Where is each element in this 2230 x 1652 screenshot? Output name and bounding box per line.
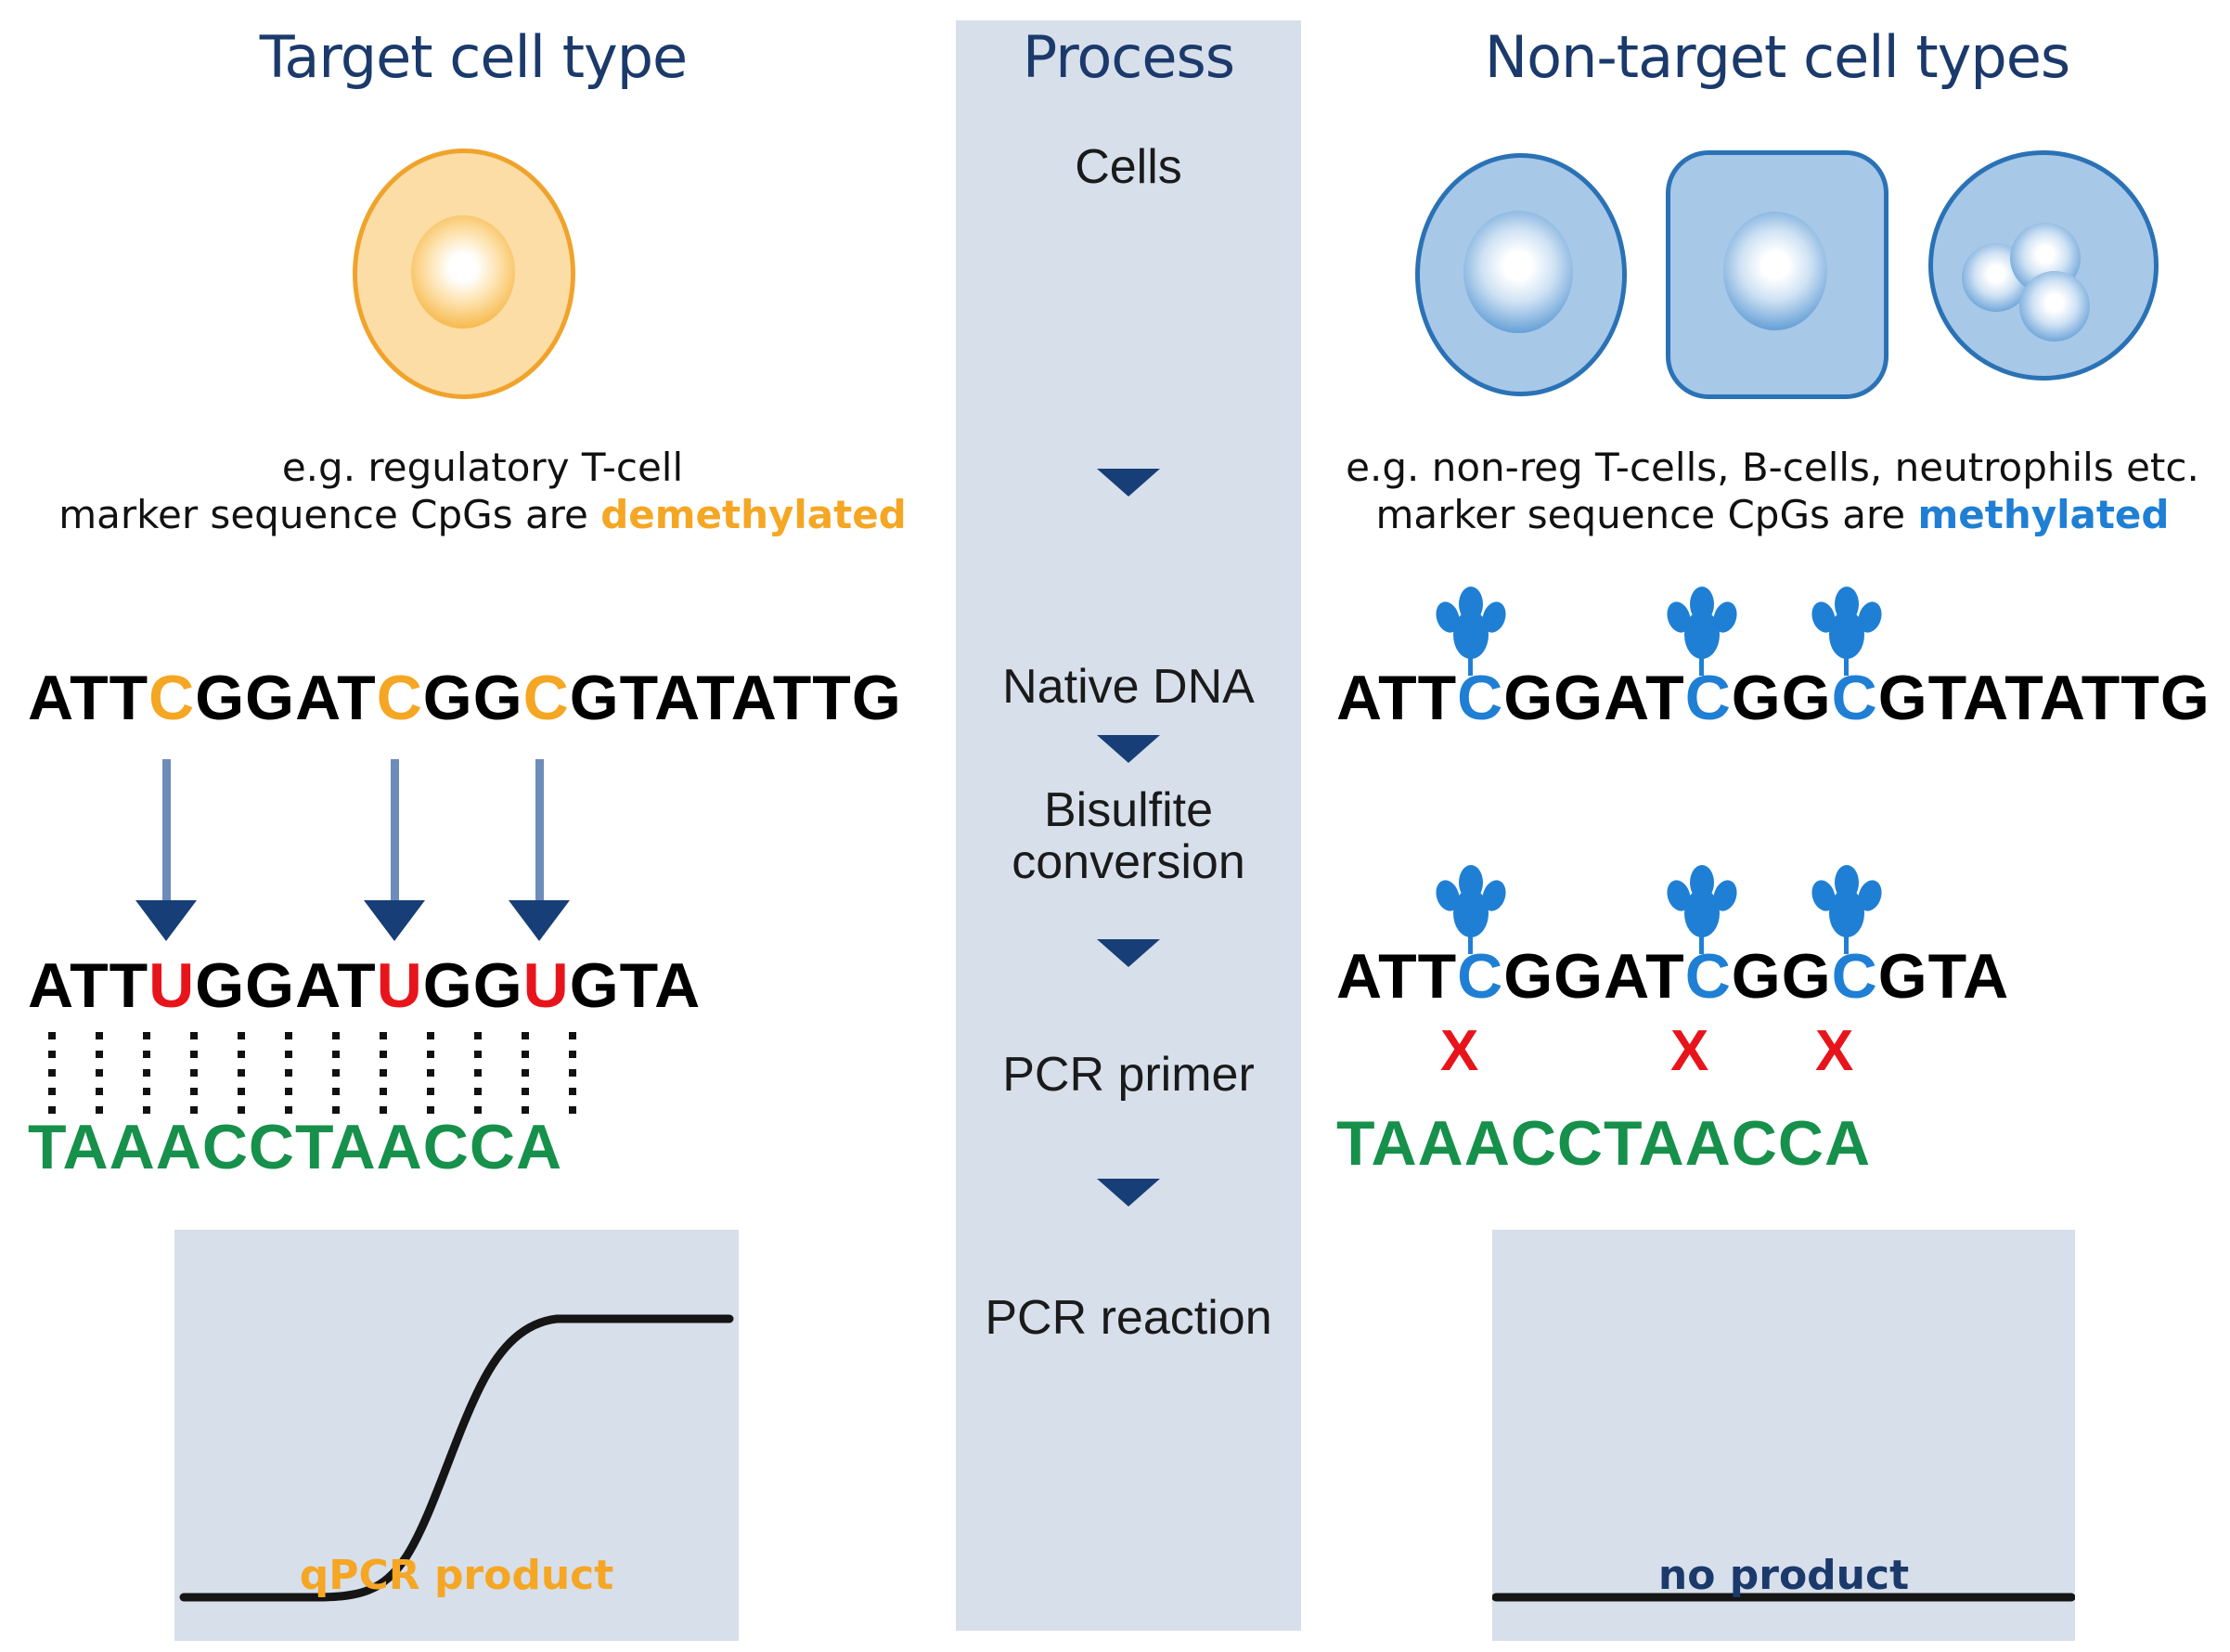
base-t-15: T bbox=[696, 663, 731, 733]
base-g-12: G bbox=[570, 950, 620, 1021]
base-g-12: G bbox=[1878, 663, 1928, 733]
target-cell-diagram bbox=[353, 148, 575, 399]
base-a-14: A bbox=[1963, 663, 2004, 733]
base-g-9: G bbox=[423, 950, 473, 1021]
base-t-7: T bbox=[1645, 663, 1685, 733]
base-pair-dot-column bbox=[332, 1032, 340, 1117]
target-caption-prefix: marker sequence CpGs are bbox=[58, 492, 600, 537]
non-target-cell-3 bbox=[1928, 150, 2160, 396]
base-a-6: A bbox=[1604, 941, 1645, 1012]
target-result-label: qPCR product bbox=[174, 1552, 739, 1599]
base-t-18: T bbox=[2120, 663, 2160, 733]
process-step-bisulfite-line1: Bisulfite bbox=[956, 784, 1301, 836]
base-g-9: G bbox=[1732, 663, 1782, 733]
column-title-process: Process bbox=[956, 23, 1301, 91]
mismatch-mark-3: X bbox=[1815, 1023, 1854, 1080]
base-t-17: T bbox=[773, 663, 813, 733]
base-g-4: G bbox=[1503, 941, 1553, 1012]
base-a-14: A bbox=[654, 950, 701, 1021]
base-t-1: T bbox=[70, 663, 110, 733]
base-t-2: T bbox=[110, 663, 149, 733]
non-target-caption-methylated: methylated bbox=[1918, 492, 2170, 537]
base-t-1: T bbox=[1378, 941, 1418, 1012]
base-pair-dot-column bbox=[96, 1032, 103, 1117]
target-base-pair-dots bbox=[28, 1032, 733, 1125]
base-t-2: T bbox=[110, 950, 149, 1021]
base-c-11: C bbox=[1832, 941, 1878, 1012]
base-c-11: C bbox=[523, 663, 570, 733]
base-t-18: T bbox=[812, 663, 852, 733]
base-t-13: T bbox=[620, 950, 655, 1021]
base-u-11: U bbox=[523, 950, 570, 1021]
base-pair-dot-column bbox=[474, 1032, 482, 1117]
base-pair-dot-column bbox=[48, 1032, 56, 1117]
process-step-bisulfite-line2: conversion bbox=[956, 836, 1301, 888]
arrow-down-icon-3 bbox=[1097, 939, 1160, 967]
base-g-4: G bbox=[1503, 663, 1553, 733]
non-target-post-bisulfite-sequence: ATTCGGATCGGCGTA bbox=[1336, 945, 2009, 1008]
target-pcr-primer-sequence: TAAACCTAACCA bbox=[28, 1116, 562, 1179]
base-t-13: T bbox=[620, 663, 655, 733]
base-c-3: C bbox=[1457, 941, 1503, 1012]
bisulfite-conversion-arrow-3 bbox=[509, 759, 570, 941]
target-caption-line-2: marker sequence CpGs are demethylated bbox=[19, 491, 947, 538]
base-a-0: A bbox=[28, 950, 70, 1021]
base-c-8: C bbox=[377, 663, 423, 733]
base-t-7: T bbox=[337, 663, 377, 733]
base-pair-dot-column bbox=[427, 1032, 434, 1117]
target-converted-dna-sequence: ATTUGGATUGGUGTA bbox=[28, 954, 701, 1017]
non-target-caption-prefix: marker sequence CpGs are bbox=[1376, 492, 1918, 537]
target-caption-demethylated: demethylated bbox=[600, 492, 907, 537]
process-step-pcr-primer: PCR primer bbox=[956, 1047, 1301, 1103]
base-g-5: G bbox=[245, 950, 295, 1021]
non-target-caption-line-1: e.g. non-reg T-cells, B-cells, neutrophi… bbox=[1318, 444, 2227, 491]
non-target-cell-3-nucleus-lobe-3 bbox=[2019, 271, 2090, 342]
base-a-16: A bbox=[2040, 663, 2082, 733]
base-a-0: A bbox=[1336, 663, 1378, 733]
base-g-5: G bbox=[1553, 941, 1604, 1012]
base-a-0: A bbox=[1336, 941, 1378, 1012]
target-native-dna-sequence: ATTCGGATCGGCGTATATTG bbox=[28, 666, 902, 729]
base-pair-dot-column bbox=[285, 1032, 292, 1117]
base-g-9: G bbox=[1732, 941, 1782, 1012]
column-title-non-target: Non-target cell types bbox=[1336, 23, 2218, 91]
non-target-cell-2 bbox=[1666, 150, 1888, 399]
base-a-14: A bbox=[654, 663, 696, 733]
base-a-0: A bbox=[28, 663, 70, 733]
base-g-10: G bbox=[1782, 941, 1832, 1012]
column-title-target: Target cell type bbox=[56, 23, 891, 91]
arrow-down-icon-4 bbox=[1097, 1179, 1160, 1207]
base-a-14: A bbox=[1963, 941, 2009, 1012]
base-a-6: A bbox=[295, 663, 337, 733]
arrow-down-icon-1 bbox=[1097, 469, 1160, 497]
base-g-5: G bbox=[245, 663, 295, 733]
base-pair-dot-column bbox=[190, 1032, 198, 1117]
base-c-8: C bbox=[1685, 941, 1732, 1012]
base-c-3: C bbox=[148, 663, 195, 733]
base-g-10: G bbox=[1782, 663, 1832, 733]
non-target-pcr-primer-sequence: TAAACCTAACCA bbox=[1336, 1112, 1871, 1175]
mismatch-mark-2: X bbox=[1670, 1023, 1709, 1080]
base-c-11: C bbox=[1832, 663, 1878, 733]
base-t-17: T bbox=[2082, 663, 2121, 733]
base-u-3: U bbox=[148, 950, 195, 1021]
non-target-cell-2-nucleus bbox=[1723, 212, 1827, 330]
non-target-cell-1 bbox=[1415, 153, 1629, 399]
base-g-10: G bbox=[473, 663, 523, 733]
process-step-cells: Cells bbox=[956, 139, 1301, 195]
non-target-caption-line-2: marker sequence CpGs are methylated bbox=[1318, 491, 2227, 538]
base-g-9: G bbox=[423, 663, 473, 733]
base-c-8: C bbox=[1685, 663, 1732, 733]
base-t-13: T bbox=[1928, 663, 1964, 733]
base-g-19: G bbox=[852, 663, 902, 733]
base-c-3: C bbox=[1457, 663, 1503, 733]
base-g-19: G bbox=[2160, 663, 2211, 733]
process-step-pcr-reaction: PCR reaction bbox=[956, 1290, 1301, 1346]
base-g-4: G bbox=[195, 663, 245, 733]
base-g-4: G bbox=[195, 950, 245, 1021]
figure-canvas: Target cell type Process Non-target cell… bbox=[0, 0, 2230, 1652]
base-t-2: T bbox=[1418, 663, 1458, 733]
base-t-13: T bbox=[1928, 941, 1964, 1012]
target-caption-line-1: e.g. regulatory T-cell bbox=[19, 444, 947, 491]
base-t-7: T bbox=[337, 950, 377, 1021]
non-target-result-label: no product bbox=[1492, 1552, 2075, 1599]
base-t-15: T bbox=[2004, 663, 2040, 733]
base-pair-dot-column bbox=[380, 1032, 387, 1117]
base-pair-dot-column bbox=[569, 1032, 576, 1117]
base-pair-dot-column bbox=[143, 1032, 150, 1117]
base-a-6: A bbox=[295, 950, 337, 1021]
base-u-8: U bbox=[377, 950, 423, 1021]
target-cell-nucleus bbox=[411, 215, 515, 329]
base-t-2: T bbox=[1418, 941, 1458, 1012]
non-target-native-dna-sequence: ATTCGGATCGGCGTATATTG bbox=[1336, 666, 2211, 729]
base-a-6: A bbox=[1604, 663, 1645, 733]
base-t-7: T bbox=[1645, 941, 1685, 1012]
bisulfite-conversion-arrow-2 bbox=[364, 759, 425, 941]
base-pair-dot-column bbox=[522, 1032, 529, 1117]
arrow-down-icon-2 bbox=[1097, 735, 1160, 763]
base-g-5: G bbox=[1553, 663, 1604, 733]
base-g-12: G bbox=[1878, 941, 1928, 1012]
base-t-1: T bbox=[70, 950, 110, 1021]
base-a-16: A bbox=[731, 663, 773, 733]
base-pair-dot-column bbox=[238, 1032, 245, 1117]
non-target-cell-1-nucleus bbox=[1463, 211, 1573, 333]
bisulfite-conversion-arrow-1 bbox=[135, 759, 197, 941]
base-g-12: G bbox=[570, 663, 620, 733]
base-t-1: T bbox=[1378, 663, 1418, 733]
mismatch-mark-1: X bbox=[1440, 1023, 1479, 1080]
base-g-10: G bbox=[473, 950, 523, 1021]
process-step-native-dna: Native DNA bbox=[956, 659, 1301, 715]
